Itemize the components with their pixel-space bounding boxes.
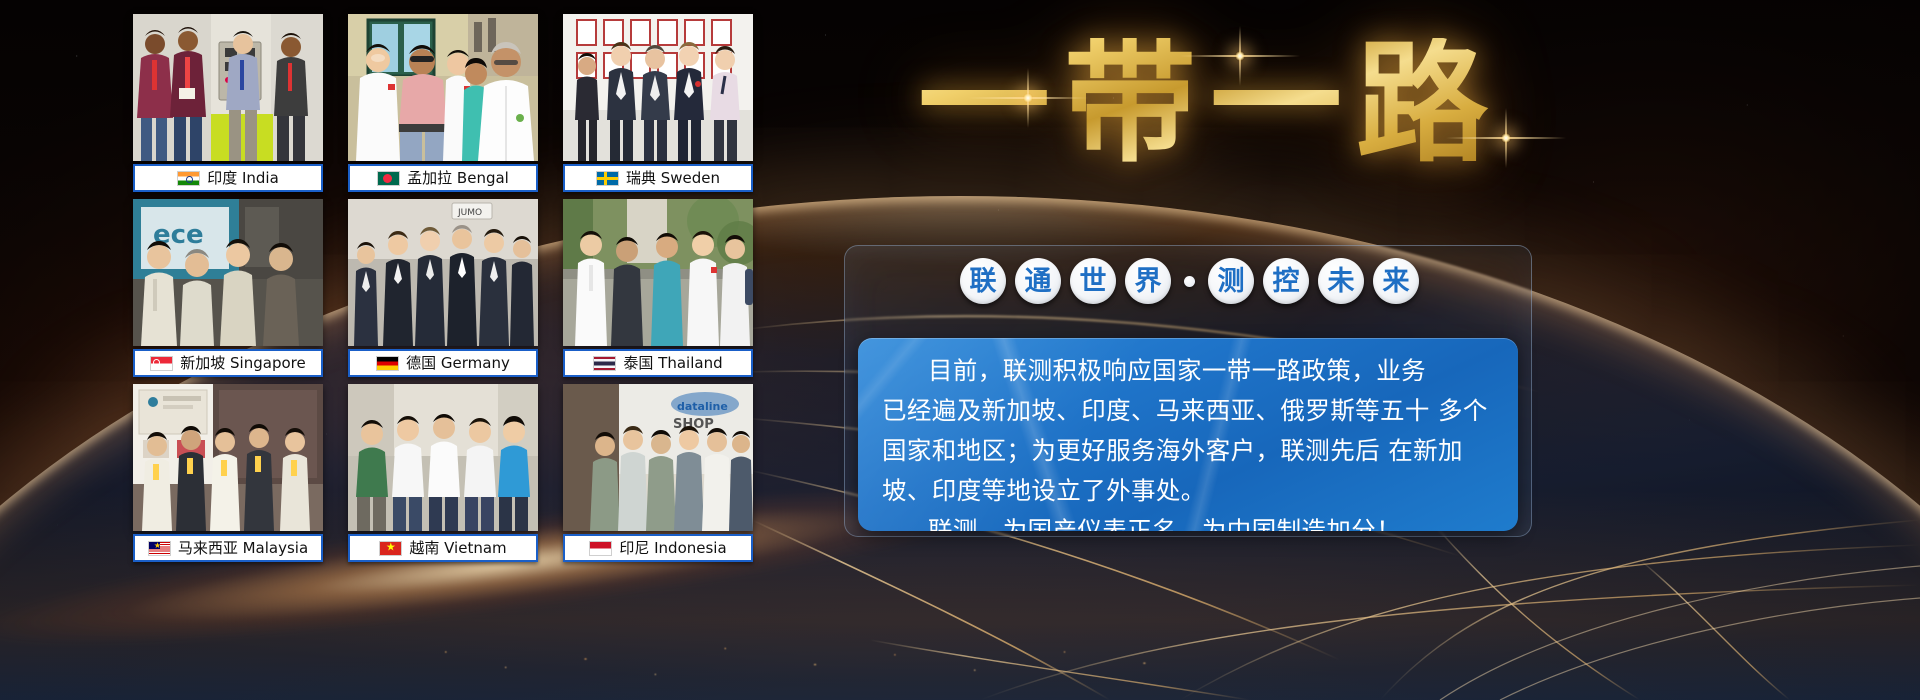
photo-card-vietnam[interactable]: 越南 Vietnam bbox=[348, 384, 538, 565]
label-text: 孟加拉 Bengal bbox=[407, 171, 509, 186]
calligraphy-text: 一带一路 bbox=[918, 38, 1502, 170]
label-text: 泰国 Thailand bbox=[623, 356, 722, 371]
country-photo-grid: 印度 India bbox=[133, 14, 753, 586]
description-line-1: 目前，联测积极响应国家一带一路政策，业务 bbox=[882, 351, 1494, 391]
slogan-char-7: 未 bbox=[1318, 258, 1364, 304]
banner-stage: 印度 India bbox=[0, 0, 1920, 700]
photo-sweden bbox=[563, 14, 753, 161]
label-thailand: 泰国 Thailand bbox=[563, 349, 753, 377]
label-text: 印度 India bbox=[207, 171, 279, 186]
label-text: 越南 Vietnam bbox=[409, 541, 506, 556]
flag-thailand-icon bbox=[593, 356, 616, 371]
photo-card-singapore[interactable]: ece bbox=[133, 199, 323, 380]
photo-india bbox=[133, 14, 323, 161]
calligraphy-title: 一带一路 bbox=[860, 6, 1560, 201]
flag-vietnam-icon bbox=[379, 541, 402, 556]
slogan-char-6: 控 bbox=[1263, 258, 1309, 304]
slogan-char-4: 界 bbox=[1125, 258, 1171, 304]
slogan-char-5: 测 bbox=[1208, 258, 1254, 304]
photo-singapore: ece bbox=[133, 199, 323, 346]
photo-vietnam bbox=[348, 384, 538, 531]
description-paragraph: 目前，联测积极响应国家一带一路政策，业务 已经遍及新加坡、印度、马来西亚、俄罗斯… bbox=[882, 351, 1494, 531]
label-sweden: 瑞典 Sweden bbox=[563, 164, 753, 192]
description-line-2: 已经遍及新加坡、印度、马来西亚、俄罗斯等五十 bbox=[882, 396, 1430, 425]
description-line-5: 联测，为国产仪表正名，为中国制造加分！ bbox=[882, 511, 1494, 531]
label-text: 德国 Germany bbox=[406, 356, 510, 371]
flag-malaysia-icon bbox=[148, 541, 171, 556]
label-bengal: 孟加拉 Bengal bbox=[348, 164, 538, 192]
label-singapore: 新加坡 Singapore bbox=[133, 349, 323, 377]
photo-card-thailand[interactable]: 泰国 Thailand bbox=[563, 199, 753, 380]
label-indonesia: 印尼 Indonesia bbox=[563, 534, 753, 562]
photo-card-bengal[interactable]: 孟加拉 Bengal bbox=[348, 14, 538, 195]
photo-thailand bbox=[563, 199, 753, 346]
photo-card-indonesia[interactable]: dataline SHOP bbox=[563, 384, 753, 565]
label-text: 瑞典 Sweden bbox=[626, 171, 720, 186]
description-box: 目前，联测积极响应国家一带一路政策，业务 已经遍及新加坡、印度、马来西亚、俄罗斯… bbox=[858, 338, 1518, 531]
photo-bengal bbox=[348, 14, 538, 161]
slogan-separator-dot bbox=[1184, 276, 1195, 287]
svg-text:JUMO: JUMO bbox=[457, 208, 482, 218]
label-text: 印尼 Indonesia bbox=[619, 541, 726, 556]
slogan-char-2: 通 bbox=[1015, 258, 1061, 304]
label-text: 马来西亚 Malaysia bbox=[178, 541, 308, 556]
label-vietnam: 越南 Vietnam bbox=[348, 534, 538, 562]
flag-singapore-icon bbox=[150, 356, 173, 371]
flag-india-icon bbox=[177, 171, 200, 186]
flag-sweden-icon bbox=[596, 171, 619, 186]
photo-card-sweden[interactable]: 瑞典 Sweden bbox=[563, 14, 753, 195]
flag-bangladesh-icon bbox=[377, 171, 400, 186]
flag-germany-icon bbox=[376, 356, 399, 371]
right-content-panel: 一带一路 联 通 世 界 测 控 未 来 目前，联测积极响应国家一 bbox=[840, 0, 1920, 700]
svg-text:dataline: dataline bbox=[677, 400, 728, 413]
slogan-char-8: 来 bbox=[1373, 258, 1419, 304]
flag-indonesia-icon bbox=[589, 541, 612, 556]
photo-malaysia bbox=[133, 384, 323, 531]
photo-indonesia: dataline SHOP bbox=[563, 384, 753, 531]
slogan-char-1: 联 bbox=[960, 258, 1006, 304]
label-malaysia: 马来西亚 Malaysia bbox=[133, 534, 323, 562]
photo-card-india[interactable]: 印度 India bbox=[133, 14, 323, 195]
label-text: 新加坡 Singapore bbox=[180, 356, 305, 371]
slogan-char-3: 世 bbox=[1070, 258, 1116, 304]
photo-card-germany[interactable]: JUMO bbox=[348, 199, 538, 380]
photo-germany: JUMO bbox=[348, 199, 538, 346]
slogan-row: 联 通 世 界 测 控 未 来 bbox=[960, 258, 1419, 304]
label-india: 印度 India bbox=[133, 164, 323, 192]
label-germany: 德国 Germany bbox=[348, 349, 538, 377]
photo-card-malaysia[interactable]: 马来西亚 Malaysia bbox=[133, 384, 323, 565]
